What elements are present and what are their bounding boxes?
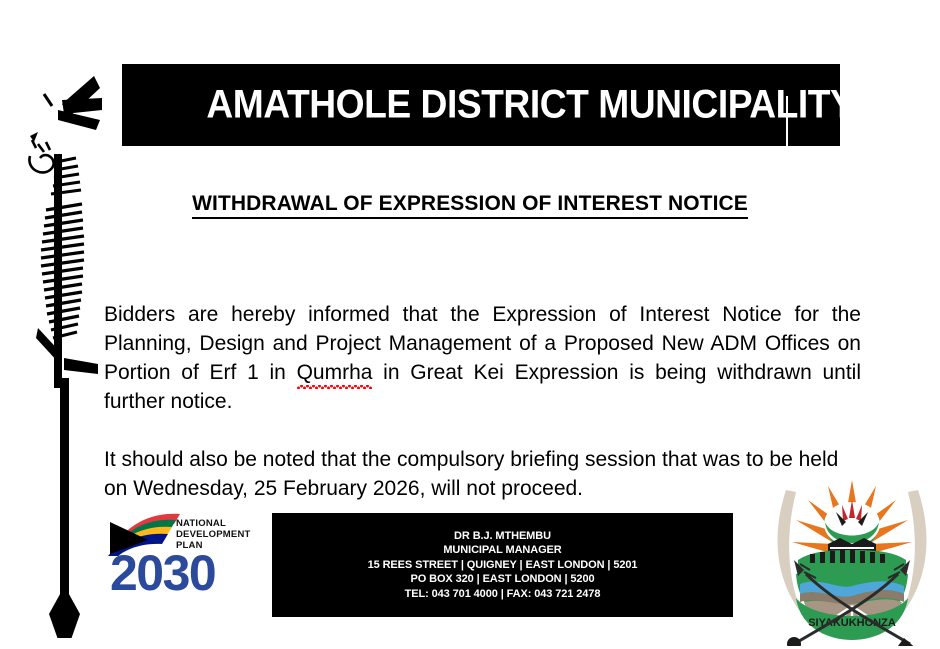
signature-line-title: MUNICIPAL MANAGER — [443, 543, 561, 558]
signature-line-pobox: PO BOX 320 | EAST LONDON | 5200 — [410, 572, 594, 587]
amathole-coat-of-arms: SIYAKUKHONZA — [768, 474, 936, 646]
signature-line-street: 15 REES STREET | QUIGNEY | EAST LONDON |… — [368, 558, 638, 573]
signature-line-name: DR B.J. MTHEMBU — [454, 529, 551, 544]
ndp-line-2: DEVELOPMENT — [176, 529, 251, 540]
ndp-year: 2030 — [110, 548, 215, 598]
signature-contact-box: DR B.J. MTHEMBU MUNICIPAL MANAGER 15 REE… — [272, 513, 733, 617]
signature-line-telfax: TEL: 043 701 4000 | FAX: 043 721 2478 — [405, 587, 601, 602]
header-banner: AMATHOLE DISTRICT MUNICIPALITY — [122, 64, 840, 146]
paragraph-2: It should also be noted that the compuls… — [104, 445, 861, 503]
paragraph-1: Bidders are hereby informed that the Exp… — [104, 300, 861, 416]
document-page: AMATHOLE DISTRICT MUNICIPALITY WITHDRAWA… — [0, 0, 940, 649]
spear-icon — [18, 58, 114, 638]
misspelled-word: Qumrha — [297, 358, 373, 387]
notice-subtitle: WITHDRAWAL OF EXPRESSION OF INTEREST NOT… — [0, 192, 940, 216]
coat-of-arms-icon: SIYAKUKHONZA — [768, 474, 936, 646]
notice-body: Bidders are hereby informed that the Exp… — [104, 300, 861, 503]
page-title-text: AMATHOLE DISTRICT MUNICIPALITY — [206, 83, 854, 128]
page-title: AMATHOLE DISTRICT MUNICIPALITY — [182, 83, 879, 128]
ndp-2030-logo: NATIONAL DEVELOPMENT PLAN 2030 — [108, 510, 240, 600]
text-cursor-caret — [786, 96, 788, 147]
notice-subtitle-text: WITHDRAWAL OF EXPRESSION OF INTEREST NOT… — [192, 192, 748, 219]
spear-decoration — [18, 58, 114, 638]
ndp-line-1: NATIONAL — [176, 518, 251, 529]
